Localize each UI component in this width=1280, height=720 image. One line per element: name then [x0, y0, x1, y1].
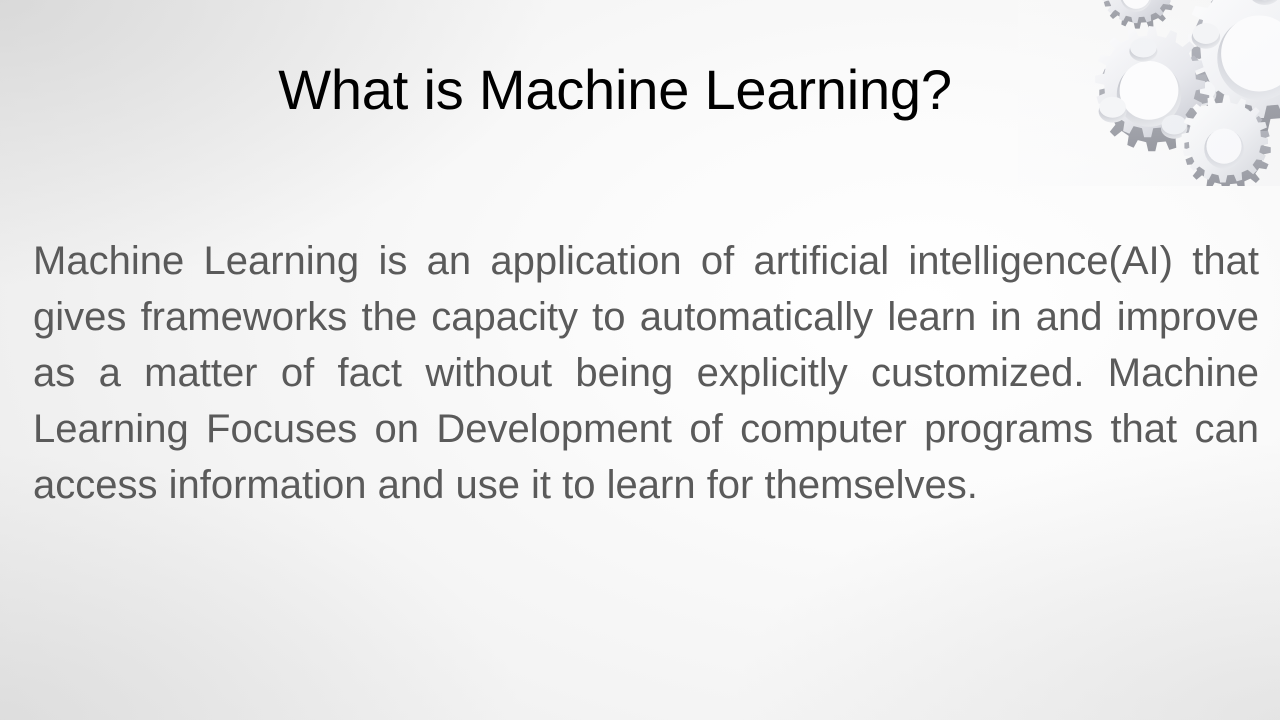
slide-body: Machine Learning is an application of ar… — [33, 233, 1259, 513]
slide-title: What is Machine Learning? — [0, 58, 1230, 122]
presentation-slide: What is Machine Learning? Machine Learni… — [0, 0, 1280, 720]
body-paragraph: Machine Learning is an application of ar… — [33, 233, 1259, 513]
